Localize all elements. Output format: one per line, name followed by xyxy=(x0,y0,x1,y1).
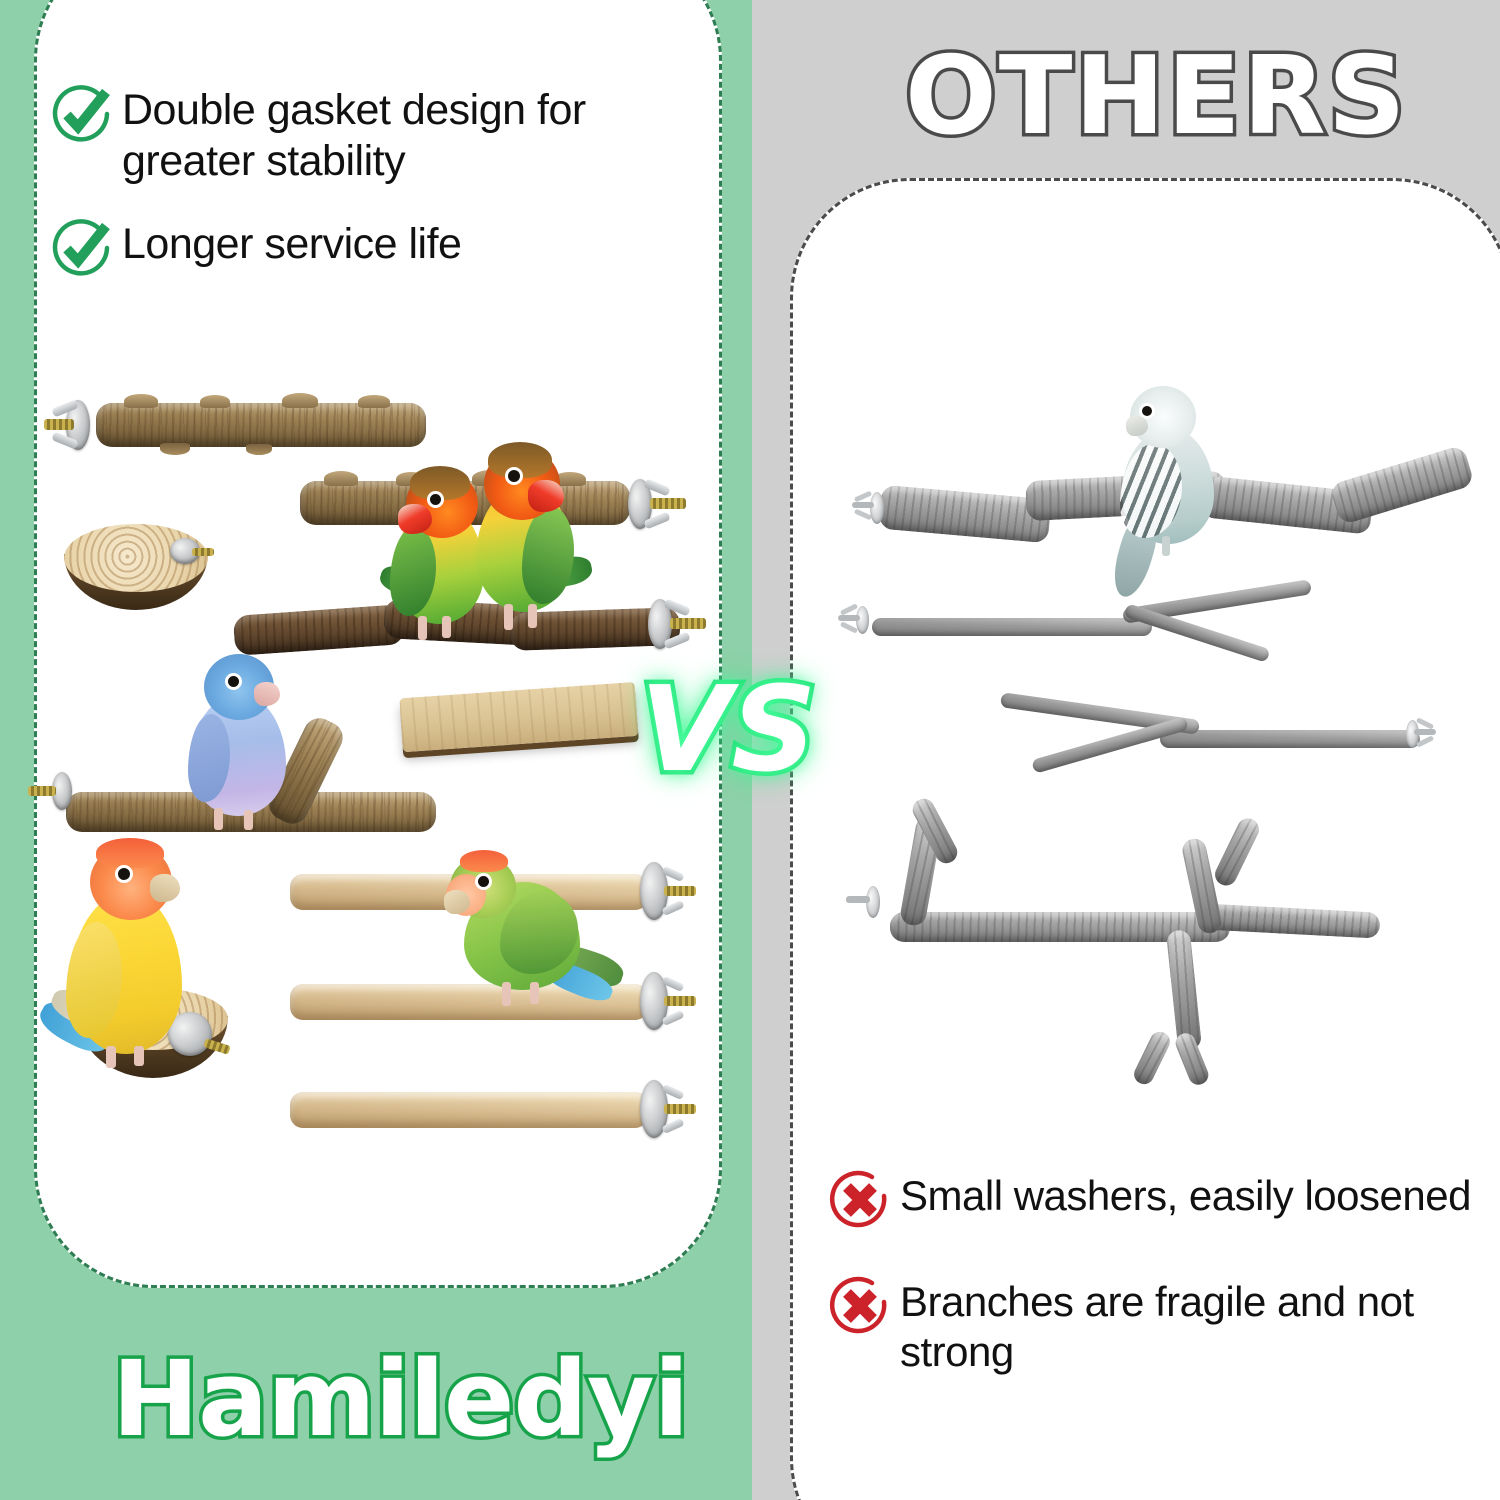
x-circle-icon xyxy=(828,1274,892,1338)
comparison-infographic: OTHERS Hamiledyi VS Double gasket design… xyxy=(0,0,1500,1500)
brand-logo-text: Hamiledyi xyxy=(112,1338,688,1460)
gray-multi-fork-branch-perch xyxy=(870,780,1430,1080)
dowel-mount-hardware-3 xyxy=(640,1080,700,1138)
cons-list: Small washers, easily loosened Branches … xyxy=(828,1168,1488,1418)
pros-list-item: Longer service life xyxy=(50,216,700,280)
gray-forked-twig-perch-1 xyxy=(872,600,1342,680)
cons-list-item-label: Small washers, easily loosened xyxy=(900,1168,1471,1221)
perch-mount-hardware xyxy=(28,772,80,812)
small-washer-hardware-4 xyxy=(846,886,890,920)
dowel-mount-hardware-2 xyxy=(640,972,700,1030)
dowel-mount-hardware-1 xyxy=(640,862,700,920)
live-edge-plank-platform xyxy=(399,682,642,784)
small-washer-hardware-1 xyxy=(852,492,894,526)
check-circle-icon xyxy=(50,216,114,280)
cons-list-item: Small washers, easily loosened xyxy=(828,1168,1488,1232)
small-washer-hardware-3 xyxy=(1396,720,1440,750)
peach-faced-lovebird-green xyxy=(444,852,624,1032)
perch-mount-hardware xyxy=(170,534,222,570)
perch-mount-hardware xyxy=(44,398,100,452)
pros-list-item-label: Double gasket design for greater stabili… xyxy=(122,82,700,186)
natural-wood-perch-long xyxy=(96,403,426,447)
vs-badge: VS xyxy=(640,660,816,798)
pros-list-item: Double gasket design for greater stabili… xyxy=(50,82,700,186)
blue-parrotlet xyxy=(182,648,312,828)
x-circle-icon xyxy=(828,1168,892,1232)
cons-list-item: Branches are fragile and not strong xyxy=(828,1274,1488,1376)
cons-list-item-label: Branches are fragile and not strong xyxy=(900,1274,1488,1376)
pros-list-item-label: Longer service life xyxy=(122,216,461,270)
wooden-dowel-perch-3 xyxy=(290,1092,648,1128)
perch-mount-hardware xyxy=(628,478,688,530)
budgerigar xyxy=(1110,386,1250,586)
perch-mount-hardware xyxy=(648,598,710,650)
small-washer-hardware-2 xyxy=(838,606,880,636)
peach-faced-lovebird-yellow xyxy=(44,838,224,1088)
lovebird-right xyxy=(466,440,596,640)
pros-list: Double gasket design for greater stabili… xyxy=(50,82,700,310)
others-heading: OTHERS xyxy=(905,34,1408,159)
check-circle-icon xyxy=(50,82,114,146)
